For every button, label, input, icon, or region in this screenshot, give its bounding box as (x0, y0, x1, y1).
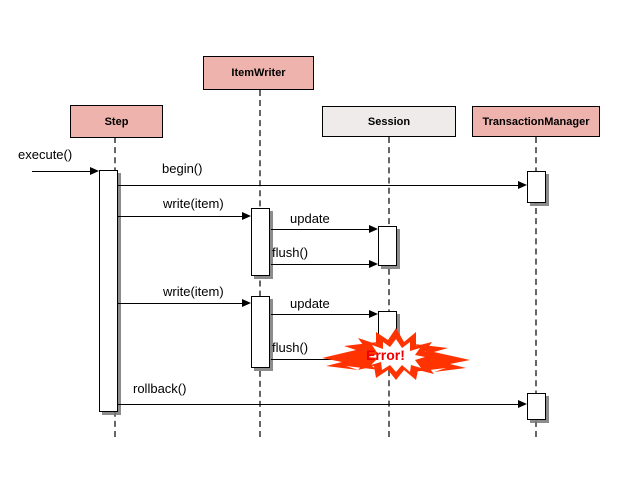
activation-bar-transactionmanager-1 (527, 171, 546, 203)
message-label-update-1: update (290, 211, 330, 226)
message-label-update-2: update (290, 296, 330, 311)
message-arrowhead-write-2 (242, 299, 251, 307)
error-burst-icon: Error! (322, 326, 470, 382)
message-arrowhead-begin (518, 181, 527, 189)
message-arrowhead-rollback (518, 400, 527, 408)
error-label: Error! (366, 347, 405, 363)
lifeline-stem-session (388, 137, 390, 437)
activation-bar-transactionmanager-2 (527, 393, 546, 420)
participant-label-step: Step (105, 116, 129, 128)
participant-label-itemwriter: ItemWriter (231, 67, 285, 79)
message-arrowhead-flush-1 (369, 260, 378, 268)
participant-box-session[interactable]: Session (322, 106, 456, 137)
message-arrowhead-execute (90, 167, 99, 175)
participant-box-itemwriter[interactable]: ItemWriter (203, 56, 314, 90)
message-label-rollback: rollback() (133, 381, 186, 396)
message-arrowhead-write-1 (242, 212, 251, 220)
message-line-begin (118, 185, 521, 186)
participant-box-transactionmanager[interactable]: TransactionManager (472, 106, 600, 137)
participant-box-step[interactable]: Step (70, 105, 163, 138)
activation-bar-step (99, 170, 118, 412)
message-label-write-1: write(item) (163, 196, 224, 211)
message-arrowhead-update-2 (369, 310, 378, 318)
sequence-diagram-canvas: Step ItemWriter Session TransactionManag… (0, 0, 642, 491)
message-line-execute (32, 171, 92, 172)
message-line-update-1 (271, 229, 372, 230)
activation-bar-itemwriter-2 (251, 296, 270, 368)
message-label-execute: execute() (18, 147, 72, 162)
message-label-write-2: write(item) (163, 284, 224, 299)
message-line-flush-1 (271, 264, 372, 265)
message-line-write-2 (118, 303, 245, 304)
message-label-flush-2: flush() (272, 340, 308, 355)
participant-label-transactionmanager: TransactionManager (483, 116, 590, 128)
message-line-update-2 (271, 314, 372, 315)
activation-bar-session-1 (378, 226, 397, 266)
message-label-begin: begin() (162, 161, 202, 176)
message-label-flush-1: flush() (272, 245, 308, 260)
message-arrowhead-update-1 (369, 225, 378, 233)
message-line-rollback (118, 404, 521, 405)
participant-label-session: Session (368, 116, 410, 128)
message-line-write-1 (118, 216, 245, 217)
activation-bar-itemwriter-1 (251, 208, 270, 276)
